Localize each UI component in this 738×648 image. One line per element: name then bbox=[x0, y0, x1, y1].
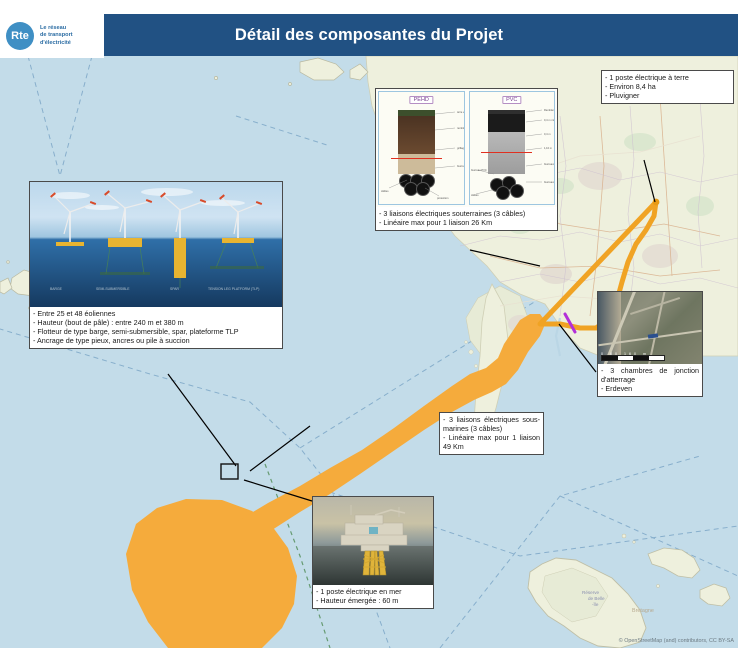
rte-logo-tagline: Le réseau de transport d'électricité bbox=[40, 25, 73, 47]
sc-line-1: - 3 liaisons électriques sous-marines (3… bbox=[443, 415, 540, 433]
os-line-1: - 1 poste électrique à terre bbox=[605, 73, 730, 82]
svg-text:0,4 m: 0,4 m bbox=[544, 132, 551, 136]
onshore-substation-marker bbox=[653, 199, 660, 206]
uc-line-2: - Linéaire max pour 1 liaison 26 Km bbox=[379, 218, 554, 227]
lc-line-2: - Erdeven bbox=[601, 384, 699, 393]
svg-text:TENSION LEG PLATFORM (TLP): TENSION LEG PLATFORM (TLP) bbox=[208, 287, 259, 291]
underground-cable-callout[interactable]: PEHD bbox=[375, 88, 558, 231]
svg-text:grillage avertisseur: grillage avertisseur bbox=[457, 146, 464, 150]
trench-pvc-leaders: Remblai0,4 m minimum 0,4 m1,10 m fourrea… bbox=[470, 92, 555, 204]
submarine-cable-callout[interactable]: - 3 liaisons électriques sous-marines (3… bbox=[439, 412, 544, 455]
submarine-cable-callout-text: - 3 liaisons électriques sous-marines (3… bbox=[440, 413, 543, 454]
wind-line-4: - Ancrage de type pieux, ancres ou pile … bbox=[33, 336, 279, 345]
svg-text:-Île: -Île bbox=[592, 601, 599, 607]
platform-shape bbox=[313, 497, 433, 585]
svg-text:protection: protection bbox=[437, 196, 449, 200]
onshore-substation-callout-text: - 1 poste électrique à terre - Environ 8… bbox=[602, 71, 733, 103]
rte-tagline-line2: de transport bbox=[40, 32, 73, 39]
svg-text:de Belle: de Belle bbox=[588, 596, 605, 601]
wind-line-2: - Hauteur (bout de pâle) : entre 240 m e… bbox=[33, 318, 279, 327]
offshore-substation-callout[interactable]: - 1 poste électrique en mer - Hauteur ém… bbox=[312, 496, 434, 609]
wind-line-3: - Flotteur de type barge, semi-submersib… bbox=[33, 327, 279, 336]
rte-logo-mark: Rte bbox=[6, 22, 34, 50]
svg-text:fourreaux PVC: fourreaux PVC bbox=[544, 162, 555, 166]
ofs-line-1: - 1 poste électrique en mer bbox=[316, 587, 430, 596]
rte-tagline-line1: Le réseau bbox=[40, 25, 73, 32]
svg-text:Réserve: Réserve bbox=[582, 590, 600, 595]
svg-text:terre végétale: terre végétale bbox=[457, 110, 464, 114]
os-line-2: - Environ 8,4 ha bbox=[605, 82, 730, 91]
helipad bbox=[369, 527, 378, 534]
turbine-shapes: BARGE SEMI-SUBMERSIBLE SPAR TENSION LEG … bbox=[30, 182, 282, 307]
underground-cable-callout-text: - 3 liaisons électriques souterraines (3… bbox=[376, 207, 557, 230]
uc-line-1: - 3 liaisons électriques souterraines (3… bbox=[379, 209, 554, 218]
islands-northwest bbox=[214, 58, 368, 86]
rte-logo: Rte Le réseau de transport d'électricité bbox=[0, 14, 104, 58]
svg-text:SPAR: SPAR bbox=[170, 287, 180, 291]
wind-line-1: - Entre 25 et 48 éoliennes bbox=[33, 309, 279, 318]
scale-bar-labels: 0 80 160 m bbox=[601, 352, 649, 356]
wind-farm-callout-text: - Entre 25 et 48 éoliennes - Hauteur (bo… bbox=[30, 307, 282, 348]
svg-text:câbles: câbles bbox=[381, 189, 389, 193]
os-line-3: - Pluvigner bbox=[605, 91, 730, 100]
svg-text:fourreau PVC: fourreau PVC bbox=[471, 168, 487, 172]
svg-text:fourreaux PVC: fourreaux PVC bbox=[544, 180, 555, 184]
trench-pehd: PEHD bbox=[378, 91, 465, 205]
floating-wind-turbine-illustration: BARGE SEMI-SUBMERSIBLE SPAR TENSION LEG … bbox=[30, 182, 282, 307]
cable-trench-cross-sections: PEHD bbox=[376, 89, 557, 207]
svg-text:BARGE: BARGE bbox=[50, 287, 63, 291]
svg-text:remblai: remblai bbox=[457, 126, 464, 130]
lc-line-1: - 3 chambres de jonction d'atterrage bbox=[601, 366, 699, 384]
svg-text:0,4 m minimum: 0,4 m minimum bbox=[544, 118, 555, 122]
landing-chambers-callout[interactable]: 0 80 160 m - 3 chambres de jonction d'at… bbox=[597, 291, 703, 397]
svg-text:Bretagne: Bretagne bbox=[632, 608, 654, 614]
page-title: Détail des composantes du Projet bbox=[0, 14, 738, 56]
offshore-substation-platform-photo bbox=[313, 497, 433, 585]
svg-text:fourreaux: fourreaux bbox=[457, 164, 464, 168]
svg-text:Remblai: Remblai bbox=[544, 108, 554, 112]
map-attribution: © OpenStreetMap (and) contributors, CC B… bbox=[619, 638, 734, 644]
svg-text:1,10 m: 1,10 m bbox=[544, 146, 552, 150]
ofs-line-2: - Hauteur émergée : 60 m bbox=[316, 596, 430, 605]
landing-chambers-callout-text: - 3 chambres de jonction d'atterrage - E… bbox=[598, 364, 702, 396]
aerial-landing-site-photo: 0 80 160 m bbox=[598, 292, 702, 364]
islands-south: Réserve de Belle -Île Bretagne bbox=[528, 534, 730, 648]
onshore-substation-callout[interactable]: - 1 poste électrique à terre - Environ 8… bbox=[601, 70, 734, 104]
sc-line-2: - Linéaire max pour 1 liaison 49 Km bbox=[443, 433, 540, 451]
wind-farm-callout[interactable]: BARGE SEMI-SUBMERSIBLE SPAR TENSION LEG … bbox=[29, 181, 283, 349]
rte-tagline-line3: d'électricité bbox=[40, 40, 73, 47]
slide-root: Réserve de Belle -Île Bretagne bbox=[0, 0, 738, 648]
svg-text:câbles: câbles bbox=[471, 193, 479, 197]
trench-pvc: PVC bbox=[469, 91, 556, 205]
offshore-substation-callout-text: - 1 poste électrique en mer - Hauteur ém… bbox=[313, 585, 433, 608]
svg-text:SEMI-SUBMERSIBLE: SEMI-SUBMERSIBLE bbox=[96, 287, 130, 291]
trench-pehd-leaders: terre végétaleremblai grillage avertisse… bbox=[379, 92, 464, 204]
header-bar: Détail des composantes du Projet bbox=[0, 14, 738, 56]
